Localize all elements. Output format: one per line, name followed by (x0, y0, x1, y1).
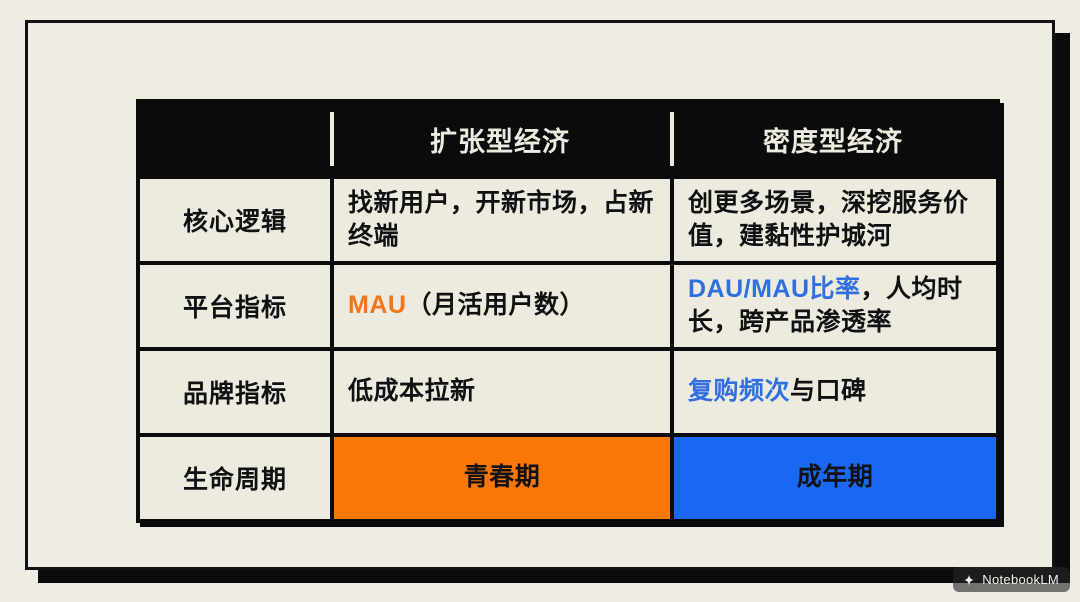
header-cell-corner (140, 103, 330, 175)
row-density-text: DAU/MAU比率，人均时长，跨产品渗透率 (688, 273, 982, 340)
row-label-cell: 品牌指标 (140, 351, 330, 433)
row-density-cell-highlight: 成年期 (670, 437, 996, 519)
row-expansion-cell: 低成本拉新 (330, 351, 670, 433)
header-cell-density: 密度型经济 (670, 103, 996, 175)
table-row: 平台指标 MAU（月活用户数） DAU/MAU比率，人均时长，跨产品渗透率 (140, 261, 996, 347)
row-expansion-text: 青春期 (348, 461, 656, 495)
row-label-cell: 生命周期 (140, 437, 330, 519)
row-label-cell: 核心逻辑 (140, 179, 330, 261)
row-label: 生命周期 (183, 460, 287, 496)
row-expansion-cell: MAU（月活用户数） (330, 265, 670, 347)
row-density-cell: DAU/MAU比率，人均时长，跨产品渗透率 (670, 265, 996, 347)
row-density-text: 创更多场景，深挖服务价值，建黏性护城河 (688, 187, 982, 254)
row-label-cell: 平台指标 (140, 265, 330, 347)
row-density-text: 复购频次与口碑 (688, 375, 982, 409)
header-expansion-label: 扩张型经济 (430, 120, 570, 159)
header-density-label: 密度型经济 (763, 120, 903, 159)
row-label: 核心逻辑 (183, 202, 287, 238)
row-label: 品牌指标 (183, 374, 287, 410)
metric-rest-repurchase: 与口碑 (790, 377, 867, 405)
table-row: 生命周期 青春期 成年期 (140, 433, 996, 519)
metric-accent-dau-mau: DAU/MAU比率 (688, 275, 861, 303)
row-density-cell: 复购频次与口碑 (670, 351, 996, 433)
table-row: 品牌指标 低成本拉新 复购频次与口碑 (140, 347, 996, 433)
spark-icon (962, 573, 976, 587)
row-expansion-cell: 找新用户，开新市场，占新终端 (330, 179, 670, 261)
row-expansion-text: 找新用户，开新市场，占新终端 (348, 187, 656, 254)
row-expansion-text: MAU（月活用户数） (348, 289, 656, 323)
table-header-row: 扩张型经济 密度型经济 (140, 103, 996, 175)
table-row: 核心逻辑 找新用户，开新市场，占新终端 创更多场景，深挖服务价值，建黏性护城河 (140, 175, 996, 261)
notebooklm-label: NotebookLM (982, 572, 1059, 587)
comparison-table: 扩张型经济 密度型经济 核心逻辑 找新用户，开新市场，占新终端 创更多场景，深挖… (136, 99, 1000, 523)
slide-canvas: 扩张型经济 密度型经济 核心逻辑 找新用户，开新市场，占新终端 创更多场景，深挖… (0, 0, 1080, 602)
row-density-cell: 创更多场景，深挖服务价值，建黏性护城河 (670, 179, 996, 261)
row-label: 平台指标 (183, 288, 287, 324)
metric-accent-repurchase: 复购频次 (688, 377, 790, 405)
row-density-text: 成年期 (688, 461, 982, 495)
row-expansion-cell-highlight: 青春期 (330, 437, 670, 519)
metric-accent-mau: MAU (348, 291, 406, 319)
metric-rest-mau: （月活用户数） (406, 291, 585, 319)
notebooklm-watermark: NotebookLM (953, 567, 1070, 592)
slide-card: 扩张型经济 密度型经济 核心逻辑 找新用户，开新市场，占新终端 创更多场景，深挖… (25, 20, 1055, 570)
header-cell-expansion: 扩张型经济 (330, 103, 670, 175)
row-expansion-text: 低成本拉新 (348, 375, 656, 409)
